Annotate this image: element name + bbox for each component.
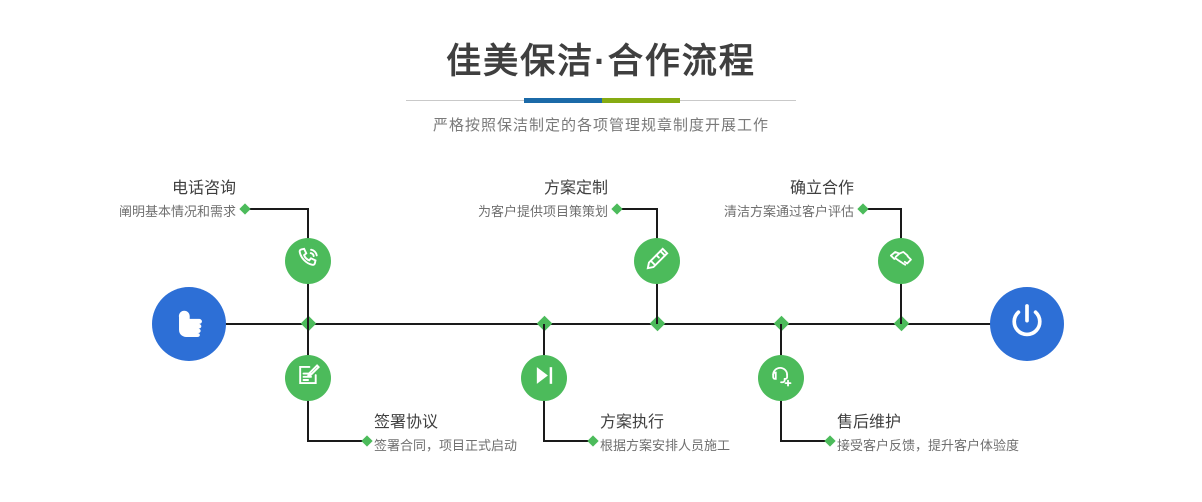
pointing-hand-icon [168,301,210,348]
step-icon-bubble [634,238,680,284]
divider-segment-blue [524,98,602,103]
step-desc: 根据方案安排人员施工 [600,436,820,456]
step-label: 方案定制 为客户提供项目策策划 [440,178,608,222]
step-label: 签署协议 签署合同，项目正式启动 [374,412,594,456]
headset-support-icon [768,362,795,394]
step-title: 确立合作 [686,178,854,200]
step-icon-bubble [521,355,567,401]
label-marker [239,203,250,214]
step-title: 电话咨询 [68,178,236,200]
flow-end-marker [990,287,1064,361]
step-label: 确立合作 清洁方案通过客户评估 [686,178,854,222]
step-desc: 签署合同，项目正式启动 [374,436,594,456]
step-label: 方案执行 根据方案安排人员施工 [600,412,820,456]
step-desc: 接受客户反馈，提升客户体验度 [837,436,1087,456]
page-subtitle: 严格按照保洁制定的各项管理规章制度开展工作 [0,114,1202,135]
step-label: 电话咨询 阐明基本情况和需求 [68,178,236,222]
step-icon-bubble [878,238,924,284]
step-title: 售后维护 [837,412,1087,434]
pencil-ruler-icon [644,245,671,277]
step-title: 方案定制 [440,178,608,200]
page-title: 佳美保洁·合作流程 [0,0,1202,84]
label-marker [857,203,868,214]
step-desc: 为客户提供项目策策划 [440,202,608,222]
step-icon-bubble [285,238,331,284]
page-header: 佳美保洁·合作流程 严格按照保洁制定的各项管理规章制度开展工作 [0,0,1202,135]
connector-horizontal [248,208,308,210]
step-title: 方案执行 [600,412,820,434]
step-icon-bubble [285,355,331,401]
handshake-icon [888,245,915,277]
flow-start-marker [152,287,226,361]
step-icon-bubble [758,355,804,401]
divider-segment-green [602,98,680,103]
title-divider [406,98,796,104]
contract-edit-icon [295,362,322,394]
connector-horizontal [543,440,593,442]
power-button-icon [1006,301,1048,348]
step-desc: 清洁方案通过客户评估 [686,202,854,222]
connector-horizontal [307,440,367,442]
play-next-icon [531,362,558,394]
step-desc: 阐明基本情况和需求 [68,202,236,222]
step-title: 签署协议 [374,412,594,434]
connector-horizontal [620,208,657,210]
label-marker [361,435,372,446]
connector-horizontal [780,440,830,442]
phone-call-icon [295,245,322,277]
label-marker [611,203,622,214]
process-flow-diagram: 电话咨询 阐明基本情况和需求 签署协议 签署合同，项目正式启动 [0,140,1202,502]
connector-horizontal [866,208,901,210]
step-label: 售后维护 接受客户反馈，提升客户体验度 [837,412,1087,456]
label-marker [824,435,835,446]
